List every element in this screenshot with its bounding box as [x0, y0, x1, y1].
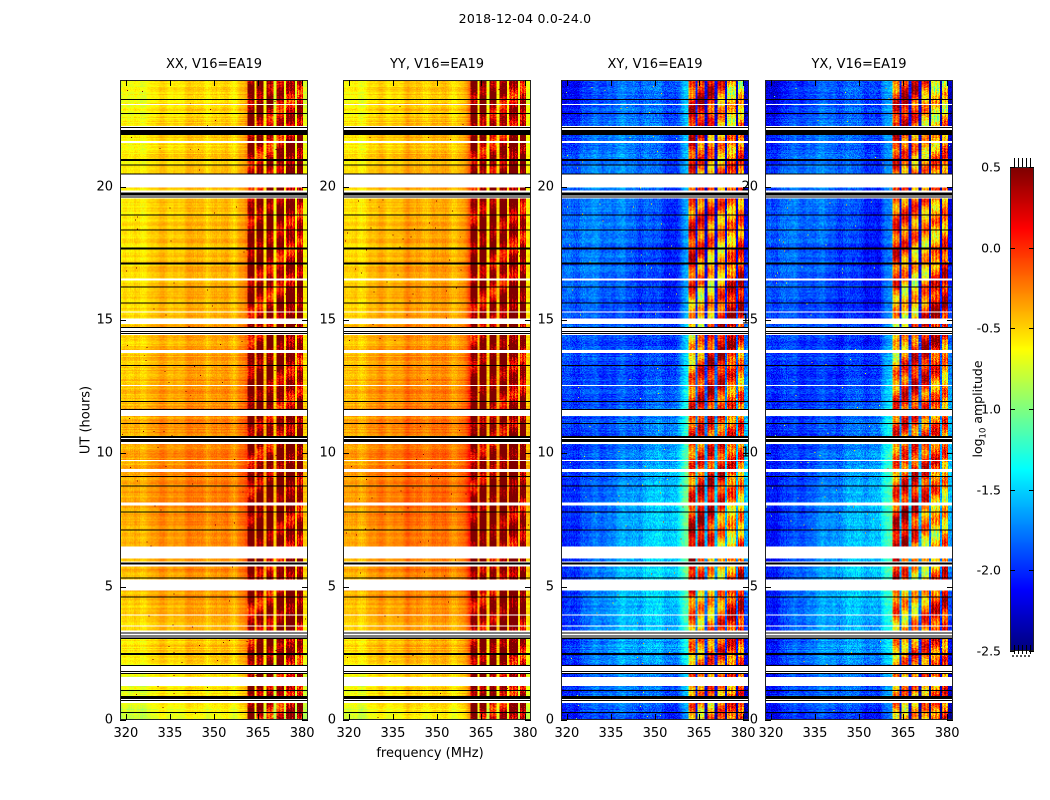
x-tick-mark: [349, 714, 350, 720]
x-tick-mark: [859, 80, 860, 86]
y-tick-mark: [947, 720, 953, 721]
x-tick-labels-panel-0: 320335350365380: [120, 726, 308, 744]
x-tick-mark: [437, 714, 438, 720]
y-tick-mark: [561, 720, 567, 721]
waterfall-panel-xx[interactable]: [120, 80, 308, 720]
y-tick-label: 5: [105, 579, 120, 594]
colorbar-tick-mark: [1010, 167, 1015, 168]
y-tick-mark: [120, 720, 126, 721]
x-tick-mark: [743, 80, 744, 86]
colorbar-tick-mark: [1010, 490, 1015, 491]
x-tick-labels-panel-3: 320335350365380: [765, 726, 953, 744]
x-tick-mark: [699, 714, 700, 720]
x-tick-mark: [437, 80, 438, 86]
colorbar-tick-mark: [1010, 248, 1015, 249]
x-tick-mark: [170, 714, 171, 720]
x-tick-mark: [126, 714, 127, 720]
x-tick-label: 320: [113, 726, 138, 741]
x-tick-mark: [815, 80, 816, 86]
x-axis-label: frequency (MHz): [0, 746, 860, 761]
colorbar-tick-mark: [1010, 328, 1015, 329]
x-tick-label: 365: [246, 726, 271, 741]
y-tick-mark: [561, 320, 567, 321]
y-tick-mark: [120, 320, 126, 321]
y-tick-label: 20: [537, 179, 561, 194]
y-tick-mark: [561, 187, 567, 188]
y-tick-label: 5: [328, 579, 343, 594]
colorbar-tick-mark: [1029, 328, 1034, 329]
panel-title-yx: YX, V16=EA19: [765, 57, 953, 72]
y-tick-label: 10: [537, 446, 561, 461]
y-tick-label: 0: [105, 713, 120, 728]
colorbar-extend-top: [1011, 158, 1033, 167]
y-tick-mark: [343, 320, 349, 321]
y-tick-mark: [743, 720, 749, 721]
y-tick-label: 10: [96, 446, 120, 461]
y-tick-mark: [561, 453, 567, 454]
y-tick-label: 15: [96, 313, 120, 328]
panel-title-xy: XY, V16=EA19: [561, 57, 749, 72]
y-tick-mark: [947, 187, 953, 188]
x-tick-label: 350: [425, 726, 450, 741]
x-tick-mark: [525, 80, 526, 86]
x-tick-label: 350: [847, 726, 872, 741]
y-tick-label: 5: [750, 579, 765, 594]
y-tick-mark: [343, 587, 349, 588]
colorbar-tick-label: -1.5: [977, 482, 1008, 497]
x-tick-mark: [611, 714, 612, 720]
colorbar-tick-label: -0.5: [977, 321, 1008, 336]
y-tick-mark: [343, 187, 349, 188]
y-tick-mark: [343, 453, 349, 454]
y-tick-label: 0: [750, 713, 765, 728]
colorbar-tick-mark: [1010, 651, 1015, 652]
colorbar-tick-label: 0.5: [981, 160, 1008, 175]
y-tick-mark: [525, 320, 531, 321]
y-tick-label: 0: [546, 713, 561, 728]
y-tick-label: 20: [741, 179, 765, 194]
colorbar-tick-mark: [1010, 570, 1015, 571]
x-tick-label: 365: [469, 726, 494, 741]
x-tick-mark: [903, 80, 904, 86]
x-tick-labels-panel-2: 320335350365380: [561, 726, 749, 744]
x-tick-label: 320: [554, 726, 579, 741]
y-tick-mark: [343, 720, 349, 721]
figure-suptitle: 2018-12-04 0.0-24.0: [0, 11, 1050, 26]
y-tick-mark: [302, 587, 308, 588]
y-tick-label: 15: [741, 313, 765, 328]
waterfall-panel-yx[interactable]: [765, 80, 953, 720]
y-tick-mark: [120, 453, 126, 454]
x-tick-mark: [481, 714, 482, 720]
x-tick-mark: [655, 714, 656, 720]
x-tick-label: 380: [513, 726, 538, 741]
waterfall-panel-yy[interactable]: [343, 80, 531, 720]
colorbar-tick-label: 0.0: [981, 240, 1008, 255]
colorbar-label: log10 amplitude: [970, 360, 989, 457]
colorbar-extend-bottom: [1011, 645, 1033, 654]
x-tick-mark: [393, 714, 394, 720]
x-tick-mark: [214, 80, 215, 86]
y-tick-mark: [765, 453, 771, 454]
y-tick-mark: [120, 187, 126, 188]
x-tick-label: 335: [158, 726, 183, 741]
x-tick-label: 350: [643, 726, 668, 741]
colorbar-underflow-marker: [1012, 655, 1032, 657]
y-tick-label: 10: [741, 446, 765, 461]
x-tick-label: 335: [803, 726, 828, 741]
y-tick-label: 0: [328, 713, 343, 728]
y-tick-mark: [947, 587, 953, 588]
y-tick-mark: [947, 453, 953, 454]
y-tick-mark: [302, 320, 308, 321]
y-tick-mark: [525, 187, 531, 188]
colorbar-tick-label: -2.0: [977, 563, 1008, 578]
x-tick-mark: [393, 80, 394, 86]
y-tick-mark: [765, 320, 771, 321]
x-tick-mark: [481, 80, 482, 86]
x-tick-label: 365: [891, 726, 916, 741]
waterfall-panel-xy[interactable]: [561, 80, 749, 720]
x-tick-label: 320: [336, 726, 361, 741]
y-tick-label: 20: [319, 179, 343, 194]
x-tick-mark: [302, 80, 303, 86]
colorbar-tick-mark: [1010, 409, 1015, 410]
x-tick-mark: [170, 80, 171, 86]
x-tick-label: 380: [290, 726, 315, 741]
y-tick-mark: [525, 453, 531, 454]
x-tick-label: 335: [599, 726, 624, 741]
x-tick-label: 380: [731, 726, 756, 741]
y-tick-mark: [765, 587, 771, 588]
x-tick-mark: [771, 80, 772, 86]
y-tick-mark: [765, 187, 771, 188]
y-tick-mark: [525, 587, 531, 588]
x-tick-mark: [126, 80, 127, 86]
x-tick-mark: [567, 80, 568, 86]
x-tick-mark: [214, 714, 215, 720]
x-tick-label: 320: [758, 726, 783, 741]
y-tick-label: 15: [319, 313, 343, 328]
y-tick-mark: [561, 587, 567, 588]
y-tick-mark: [302, 453, 308, 454]
colorbar-tick-mark: [1029, 651, 1034, 652]
y-tick-mark: [120, 587, 126, 588]
x-tick-label: 350: [202, 726, 227, 741]
x-tick-mark: [611, 80, 612, 86]
x-tick-mark: [258, 80, 259, 86]
y-tick-mark: [302, 720, 308, 721]
y-tick-mark: [302, 187, 308, 188]
y-tick-mark: [743, 587, 749, 588]
colorbar-tick-mark: [1029, 167, 1034, 168]
x-tick-mark: [903, 714, 904, 720]
x-tick-mark: [567, 714, 568, 720]
x-tick-mark: [815, 714, 816, 720]
y-tick-mark: [947, 320, 953, 321]
colorbar-tick-mark: [1029, 490, 1034, 491]
x-tick-label: 365: [687, 726, 712, 741]
y-axis-label: UT (hours): [79, 386, 94, 454]
y-tick-label: 5: [546, 579, 561, 594]
x-tick-mark: [699, 80, 700, 86]
y-tick-label: 10: [319, 446, 343, 461]
colorbar-tick-label: -2.5: [977, 644, 1008, 659]
x-tick-label: 335: [381, 726, 406, 741]
x-tick-mark: [655, 80, 656, 86]
colorbar-tick-mark: [1029, 409, 1034, 410]
colorbar-tick-mark: [1029, 248, 1034, 249]
x-tick-mark: [771, 714, 772, 720]
x-tick-labels-panel-1: 320335350365380: [343, 726, 531, 744]
colorbar-tick-mark: [1029, 570, 1034, 571]
y-tick-mark: [525, 720, 531, 721]
panel-title-xx: XX, V16=EA19: [120, 57, 308, 72]
panel-title-yy: YY, V16=EA19: [343, 57, 531, 72]
x-tick-mark: [859, 714, 860, 720]
x-tick-label: 380: [935, 726, 960, 741]
y-tick-mark: [765, 720, 771, 721]
y-tick-label: 20: [96, 179, 120, 194]
x-tick-mark: [947, 80, 948, 86]
x-tick-mark: [258, 714, 259, 720]
x-tick-mark: [349, 80, 350, 86]
y-tick-label: 15: [537, 313, 561, 328]
